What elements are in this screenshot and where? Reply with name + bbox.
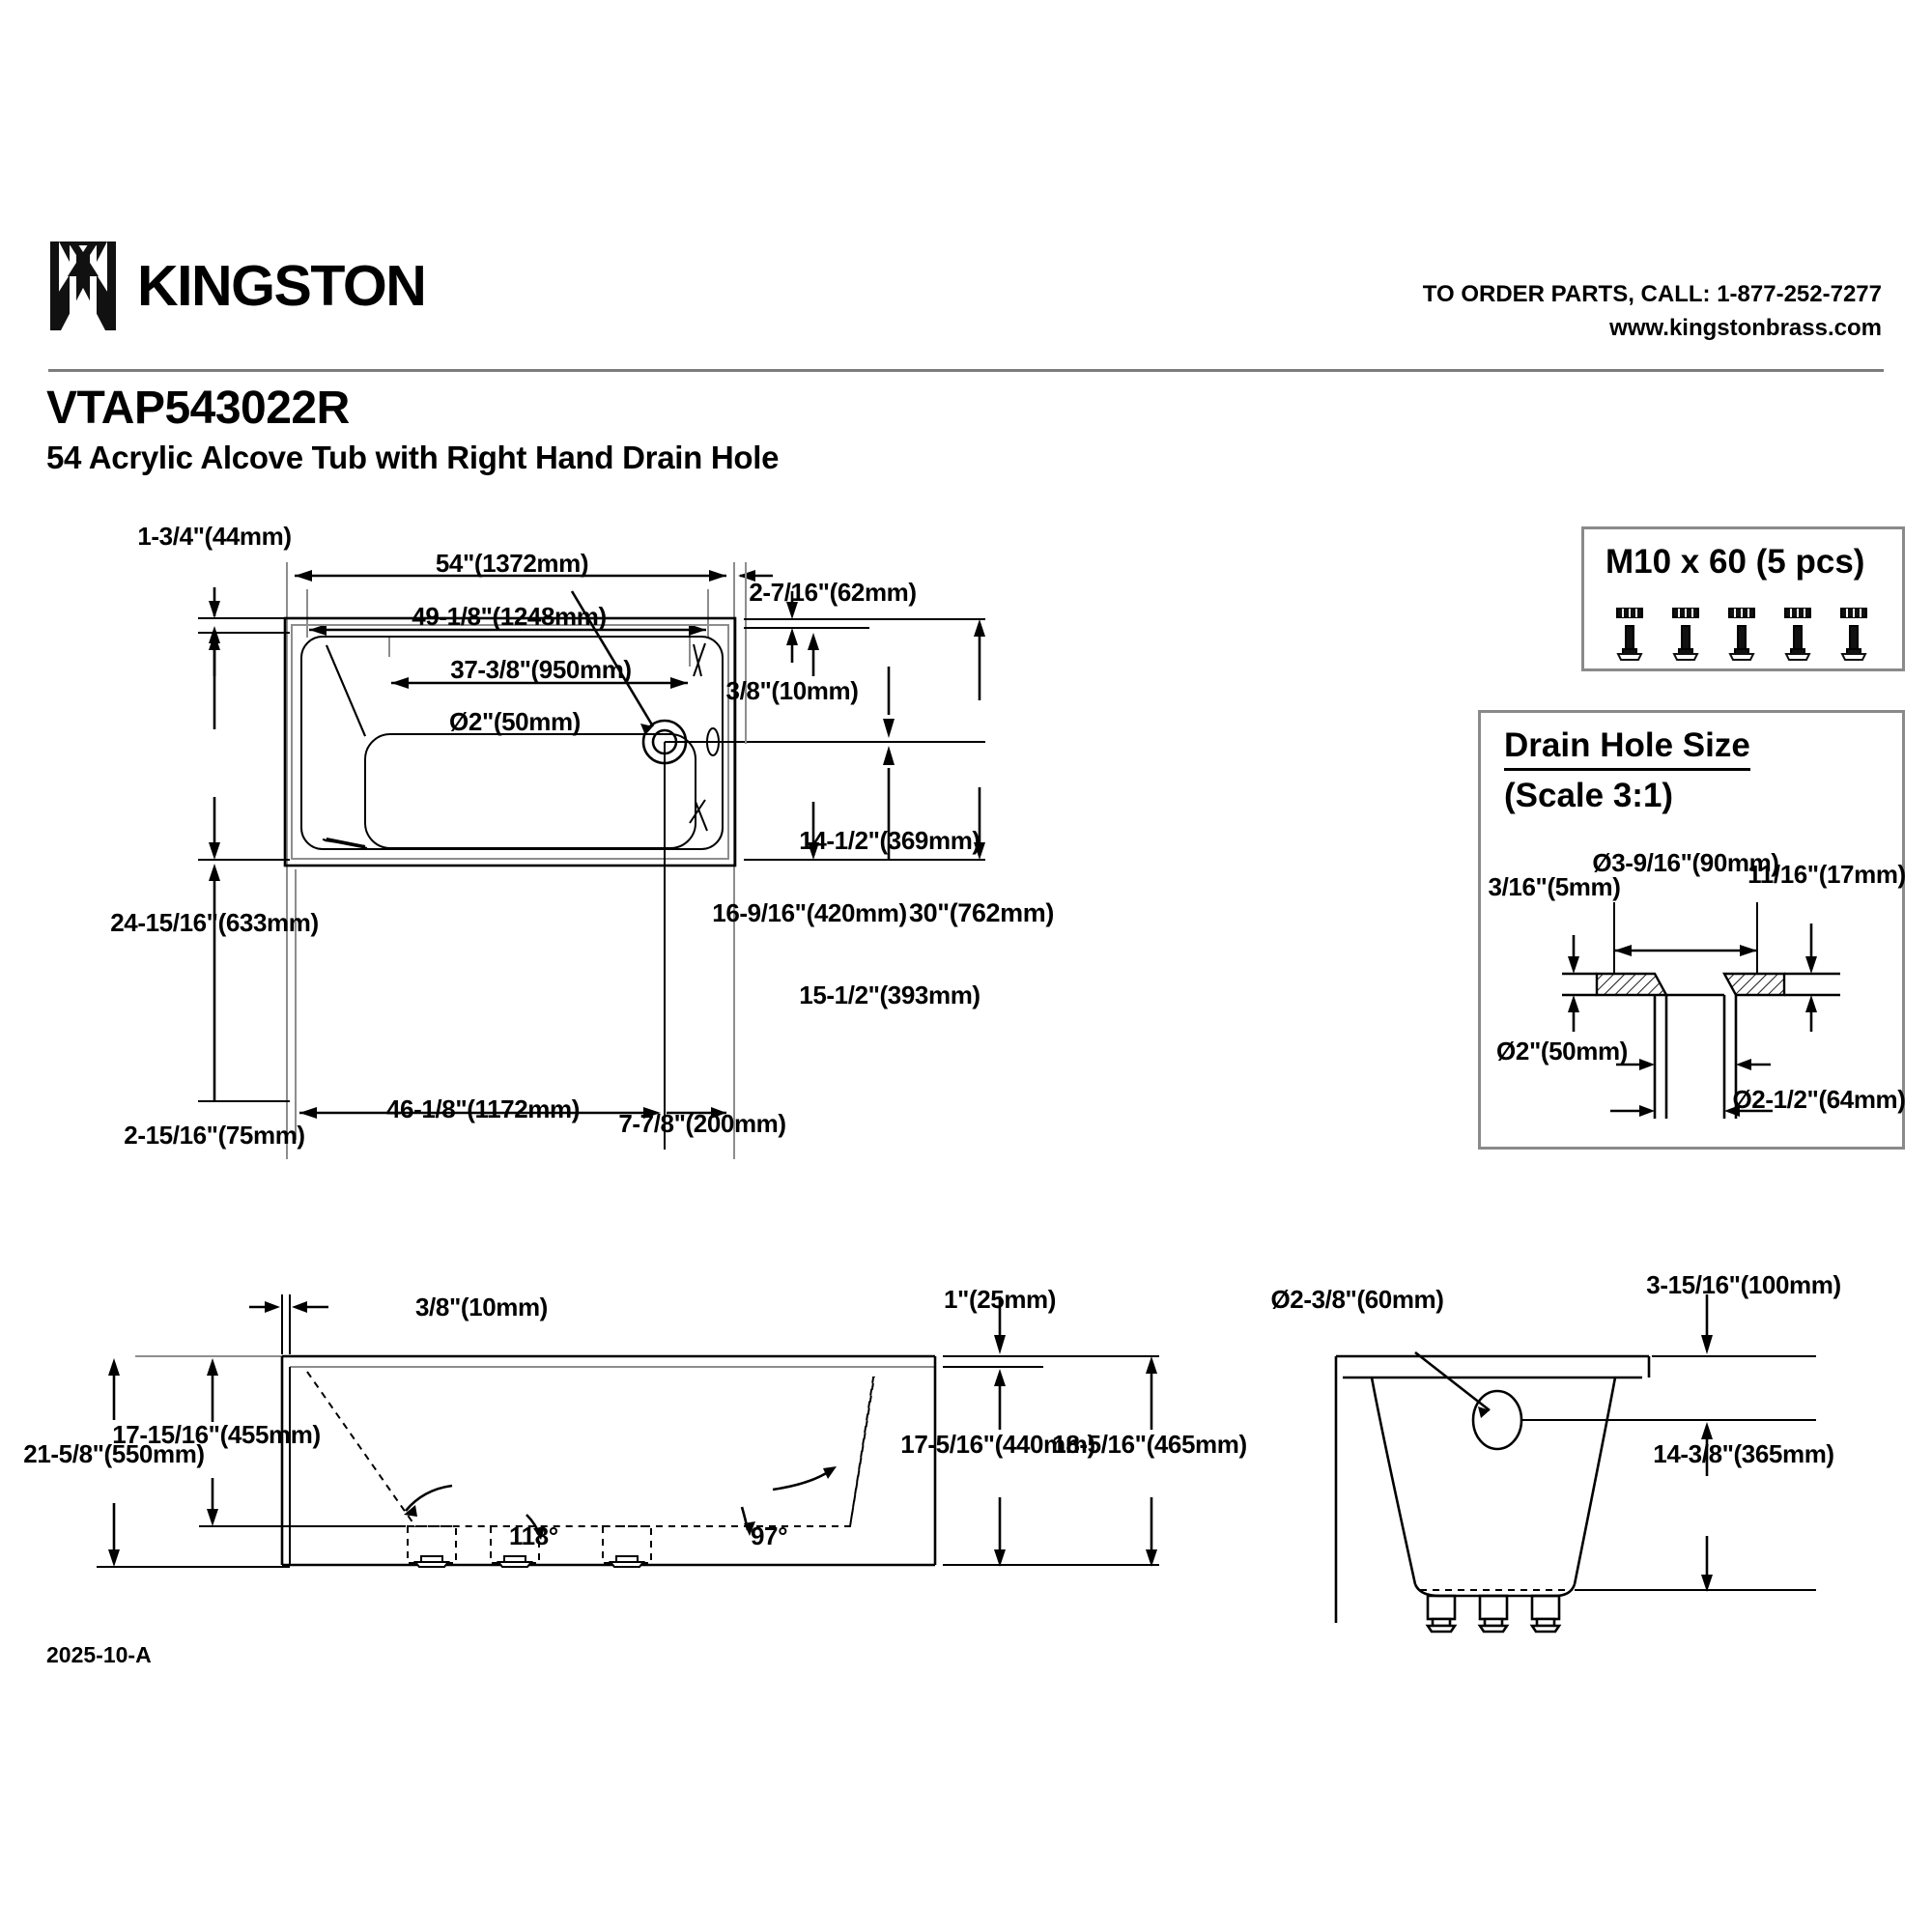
dim-flange-thickness-front: 3/8"(10mm) — [415, 1293, 548, 1322]
dim-body-height: 18-5/16"(465mm) — [1052, 1430, 1246, 1460]
dim-wall-thickness: 3/8"(10mm) — [726, 676, 859, 706]
contact-info: TO ORDER PARTS, CALL: 1-877-252-7277 www… — [1423, 278, 1882, 346]
order-phone-line: TO ORDER PARTS, CALL: 1-877-252-7277 — [1423, 278, 1882, 312]
drain-hole-panel: Drain Hole Size (Scale 3:1) — [1478, 710, 1905, 1150]
dim-drain-center: 16-9/16"(420mm) — [712, 898, 906, 928]
dim-rim-height: 1"(25mm) — [944, 1285, 1056, 1315]
dim-boss-height: 11/16"(17mm) — [1747, 860, 1906, 890]
dim-counterbore-diameter: Ø2-1/2"(64mm) — [1732, 1085, 1905, 1115]
drawing-sheet: KINGSTON TO ORDER PARTS, CALL: 1-877-252… — [0, 0, 1932, 1932]
website-line: www.kingstonbrass.com — [1423, 312, 1882, 346]
revision-code: 2025-10-A — [46, 1642, 152, 1668]
dim-inner-length: 49-1/8"(1248mm) — [412, 602, 606, 632]
hardware-panel: M10 x 60 (5 pcs) — [1581, 526, 1905, 671]
dim-right-angle: 97° — [751, 1521, 787, 1551]
dim-rim-to-overflow: 3-15/16"(100mm) — [1646, 1270, 1840, 1300]
dim-drain-end-offset: 7-7/8"(200mm) — [618, 1109, 785, 1139]
dim-drain-diameter: Ø2"(50mm) — [449, 707, 581, 737]
dim-hole-diameter: Ø2"(50mm) — [1496, 1037, 1628, 1066]
dim-drain-to-top: 14-1/2"(369mm) — [799, 826, 980, 856]
dim-left-angle: 118° — [509, 1521, 558, 1551]
dim-basin-bottom-length: 46-1/8"(1172mm) — [386, 1094, 580, 1124]
dim-overall-width: 30"(762mm) — [909, 898, 1054, 929]
leveling-foot-bolt-icon-group — [1602, 605, 1891, 665]
dim-basin-depth: 14-3/8"(365mm) — [1653, 1439, 1833, 1469]
dim-rim-width: 1-3/4"(44mm) — [137, 522, 291, 552]
dim-overflow-diameter: Ø2-3/8"(60mm) — [1270, 1285, 1443, 1315]
dim-apron-offset: 2-7/16"(62mm) — [749, 578, 916, 608]
leveling-foot-bolt-icon — [1617, 609, 1642, 660]
dim-basin-length: 37-3/8"(950mm) — [450, 655, 631, 685]
dim-bottom-rim: 2-15/16"(75mm) — [124, 1121, 304, 1151]
dim-drain-to-bottom: 15-1/2"(393mm) — [799, 980, 980, 1010]
plan-view-drawing — [0, 0, 1352, 1256]
dim-overall-length: 54"(1372mm) — [436, 549, 588, 579]
hardware-label: M10 x 60 (5 pcs) — [1605, 543, 1864, 582]
dim-interior-depth: 17-15/16"(455mm) — [112, 1420, 321, 1450]
dim-inner-width: 24-15/16"(633mm) — [110, 908, 319, 938]
